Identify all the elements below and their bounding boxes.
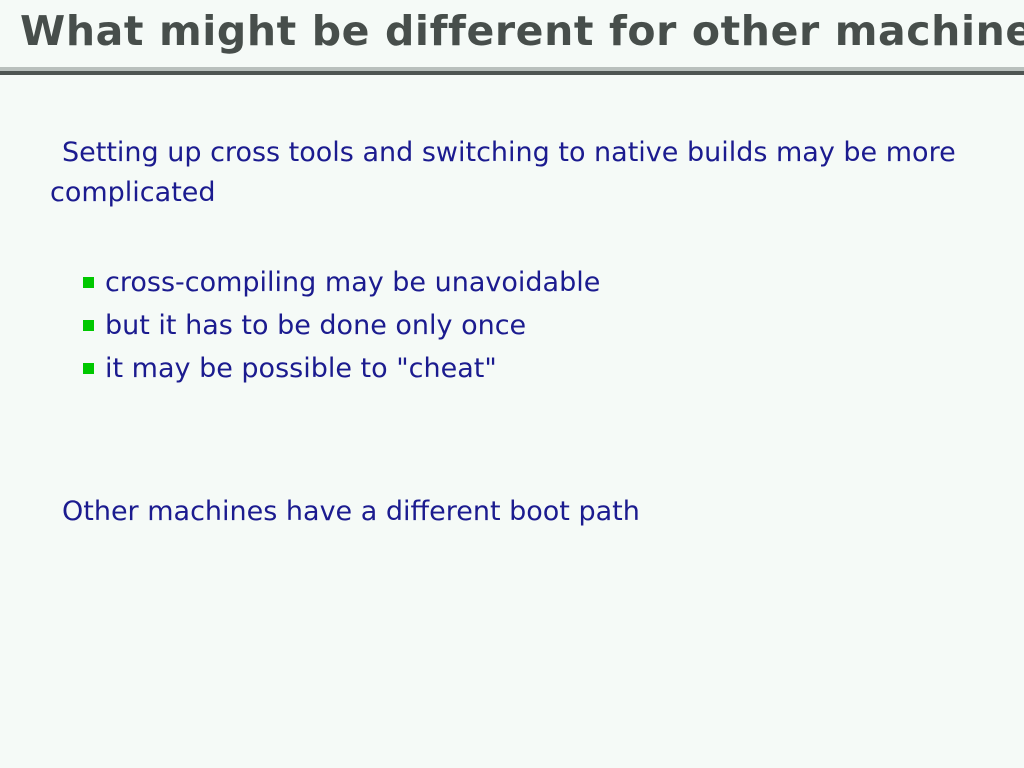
list-item: but it has to be done only once	[83, 304, 963, 347]
closing-paragraph: Other machines have a different boot pat…	[62, 492, 962, 532]
square-bullet-icon	[83, 363, 94, 374]
intro-paragraph: Setting up cross tools and switching to …	[50, 133, 970, 213]
list-item-label: but it has to be done only once	[105, 304, 526, 347]
list-item-label: it may be possible to "cheat"	[105, 347, 497, 390]
title-separator-rule	[0, 67, 1024, 75]
bullet-list: cross-compiling may be unavoidable but i…	[83, 261, 963, 390]
square-bullet-icon	[83, 320, 94, 331]
list-item: cross-compiling may be unavoidable	[83, 261, 963, 304]
slide-title-area: What might be different for other machin…	[0, 0, 1024, 67]
page-title: What might be different for other machin…	[20, 6, 1010, 57]
list-item-label: cross-compiling may be unavoidable	[105, 261, 600, 304]
square-bullet-icon	[83, 277, 94, 288]
presentation-slide: What might be different for other machin…	[0, 0, 1024, 768]
slide-body: Setting up cross tools and switching to …	[0, 75, 1024, 768]
list-item: it may be possible to "cheat"	[83, 347, 963, 390]
